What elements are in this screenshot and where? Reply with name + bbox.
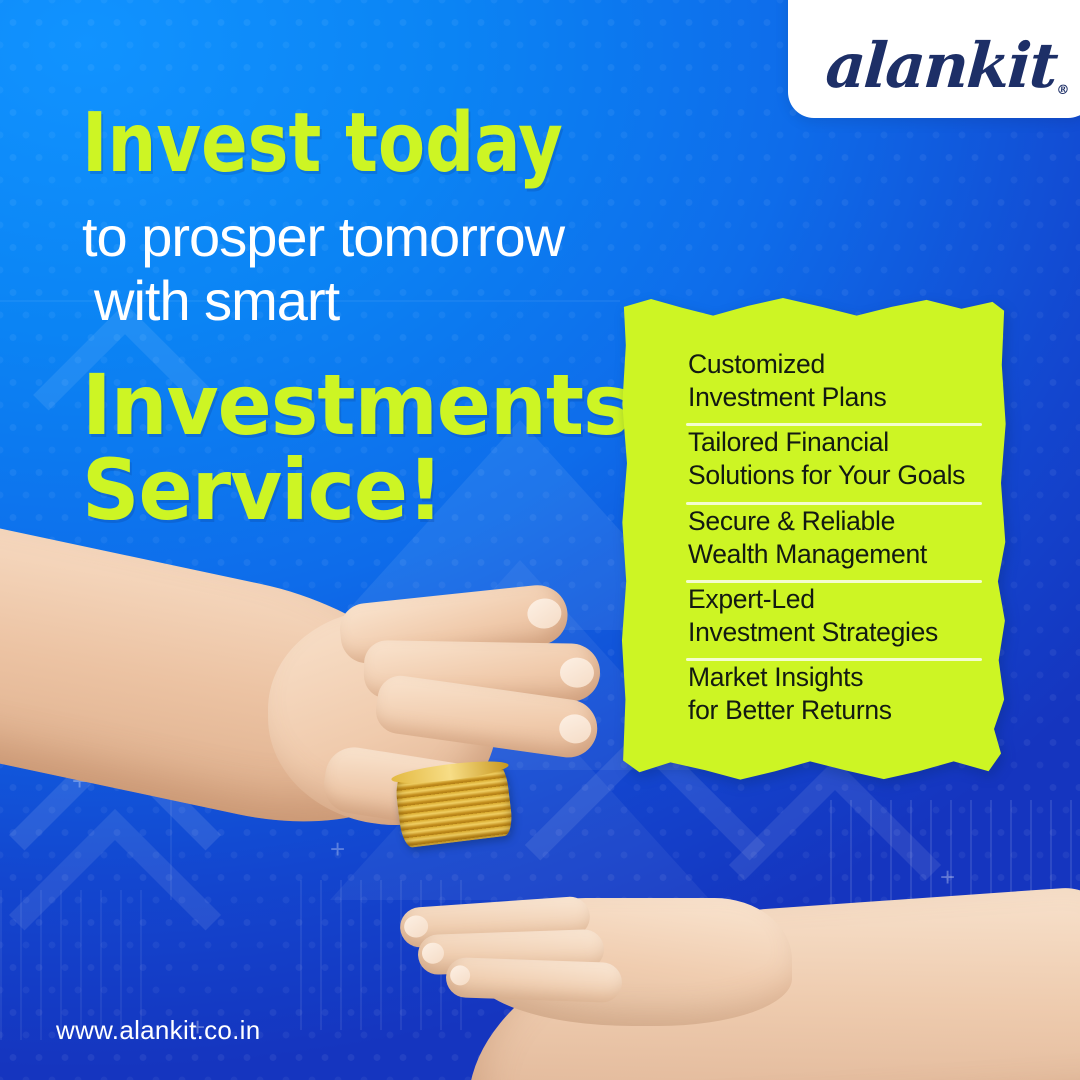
receiving-hand [392, 880, 812, 1050]
headline-spacer-1 [82, 191, 702, 205]
headline-line-3: with smart [82, 269, 702, 333]
fingernail [403, 915, 428, 939]
fingernail [560, 657, 595, 688]
headline-line-5: Service! [82, 448, 671, 534]
fingernail [422, 942, 445, 964]
brand-logo-text: alankit® [823, 29, 1058, 102]
headline-line-4: Investments [82, 363, 671, 449]
feature-item: Tailored Financial Solutions for Your Go… [688, 426, 990, 501]
feature-item: Customized Investment Plans [688, 348, 990, 423]
feature-item: Secure & Reliable Wealth Management [688, 505, 990, 580]
website-url[interactable]: www.alankit.co.in [56, 1015, 261, 1046]
plus-icon-3: + [940, 864, 955, 890]
fingernail [526, 597, 563, 630]
chevron-icon-2 [9, 809, 221, 1021]
receiving-hand-finger-ring [445, 957, 622, 1003]
fingernail [557, 712, 593, 745]
promo-poster: + + + + + + alankit® Invest today to pro… [0, 0, 1080, 1080]
feature-item: Market Insights for Better Returns [688, 661, 990, 736]
feature-list-panel: Customized Investment Plans Tailored Fin… [620, 296, 1008, 788]
brand-logo-wordmark: alankit [823, 29, 1058, 102]
headline-line-1: Invest today [82, 96, 659, 191]
feature-list: Customized Investment Plans Tailored Fin… [620, 296, 1008, 788]
gold-coin-stack-icon [394, 761, 514, 848]
registered-trademark-icon: ® [1056, 83, 1068, 98]
giving-hand [268, 580, 598, 870]
headline-block: Invest today to prosper tomorrow with sm… [82, 96, 702, 534]
fingernail [450, 965, 471, 986]
headline-line-2: to prosper tomorrow [82, 205, 702, 269]
brand-logo-panel[interactable]: alankit® [788, 0, 1080, 118]
feature-item: Expert-Led Investment Strategies [688, 583, 990, 658]
